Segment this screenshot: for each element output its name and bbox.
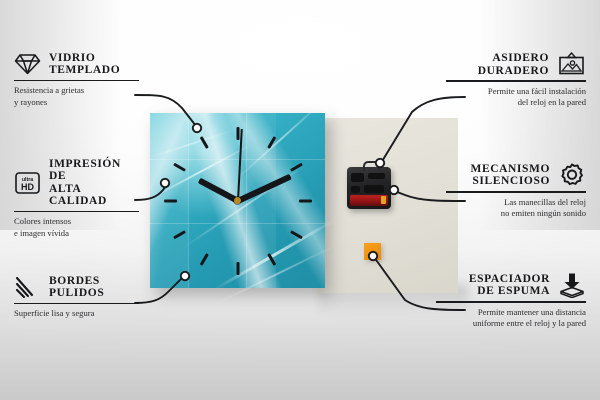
mechanism-battery — [350, 195, 388, 206]
feature-description: Permite una fácil instalación del reloj … — [446, 86, 586, 109]
ultra-hd-badge-icon: ultra HD — [14, 171, 41, 195]
feature-divider — [446, 80, 586, 82]
diamond-icon — [14, 52, 41, 76]
wall-clock-product — [150, 113, 325, 288]
glass-reflection — [150, 113, 325, 288]
clock-mechanism-box — [347, 167, 391, 209]
feature-divider — [14, 303, 139, 305]
feature-description: Las manecillas del reloj no emiten ningú… — [446, 197, 586, 220]
foam-spacer-sample — [364, 243, 381, 260]
feature-title: ASIDERO DURADERO — [478, 52, 549, 77]
gear-icon — [558, 162, 586, 188]
feature-divider — [14, 80, 139, 82]
feature-header: BORDES PULIDOS — [14, 275, 139, 300]
mechanism-detail — [351, 173, 364, 182]
feature-description: Superficie lisa y segura — [14, 308, 139, 319]
feature-description: Resistencia a grietas y rayones — [14, 85, 139, 108]
feature-header: MECANISMO SILENCIOSO — [446, 162, 586, 188]
battery-positive-terminal — [381, 196, 386, 204]
feature-mecanismo-silencioso[interactable]: MECANISMO SILENCIOSO Las manecillas del … — [446, 162, 586, 219]
infographic-canvas: VIDRIO TEMPLADO Resistencia a grietas y … — [0, 0, 600, 400]
mechanism-detail — [351, 186, 360, 193]
mechanism-hanger-icon — [363, 161, 380, 171]
feature-divider — [436, 301, 586, 303]
arrow-onto-pad-icon — [558, 272, 586, 298]
feature-espaciador-de-espuma[interactable]: ESPACIADOR DE ESPUMA Permite mantener un… — [436, 272, 586, 329]
feature-title: VIDRIO TEMPLADO — [49, 52, 120, 77]
diagonal-lines-icon — [14, 275, 41, 299]
feature-title: BORDES PULIDOS — [49, 275, 104, 300]
hanging-picture-icon — [557, 52, 586, 77]
feature-vidrio-templado[interactable]: VIDRIO TEMPLADO Resistencia a grietas y … — [14, 52, 139, 108]
feature-header: ASIDERO DURADERO — [446, 52, 586, 77]
feature-asidero-duradero[interactable]: ASIDERO DURADERO Permite una fácil insta… — [446, 52, 586, 108]
feature-header: ESPACIADOR DE ESPUMA — [436, 272, 586, 298]
mechanism-detail — [364, 185, 384, 193]
feature-bordes-pulidos[interactable]: BORDES PULIDOS Superficie lisa y segura — [14, 275, 139, 320]
feature-description: Colores intensos e imagen vívida — [14, 216, 139, 239]
mechanism-detail — [368, 173, 385, 179]
feature-header: VIDRIO TEMPLADO — [14, 52, 139, 77]
svg-text:HD: HD — [21, 182, 34, 192]
feature-divider — [14, 211, 139, 213]
feature-divider — [446, 191, 586, 193]
feature-title: ESPACIADOR DE ESPUMA — [469, 273, 550, 298]
feature-impresion-alta-calidad[interactable]: ultra HD IMPRESIÓN DE ALTA CALIDAD Color… — [14, 158, 139, 239]
feature-title: IMPRESIÓN DE ALTA CALIDAD — [49, 158, 139, 208]
feature-title: MECANISMO SILENCIOSO — [470, 163, 550, 188]
feature-description: Permite mantener una distancia uniforme … — [436, 307, 586, 330]
feature-header: ultra HD IMPRESIÓN DE ALTA CALIDAD — [14, 158, 139, 208]
